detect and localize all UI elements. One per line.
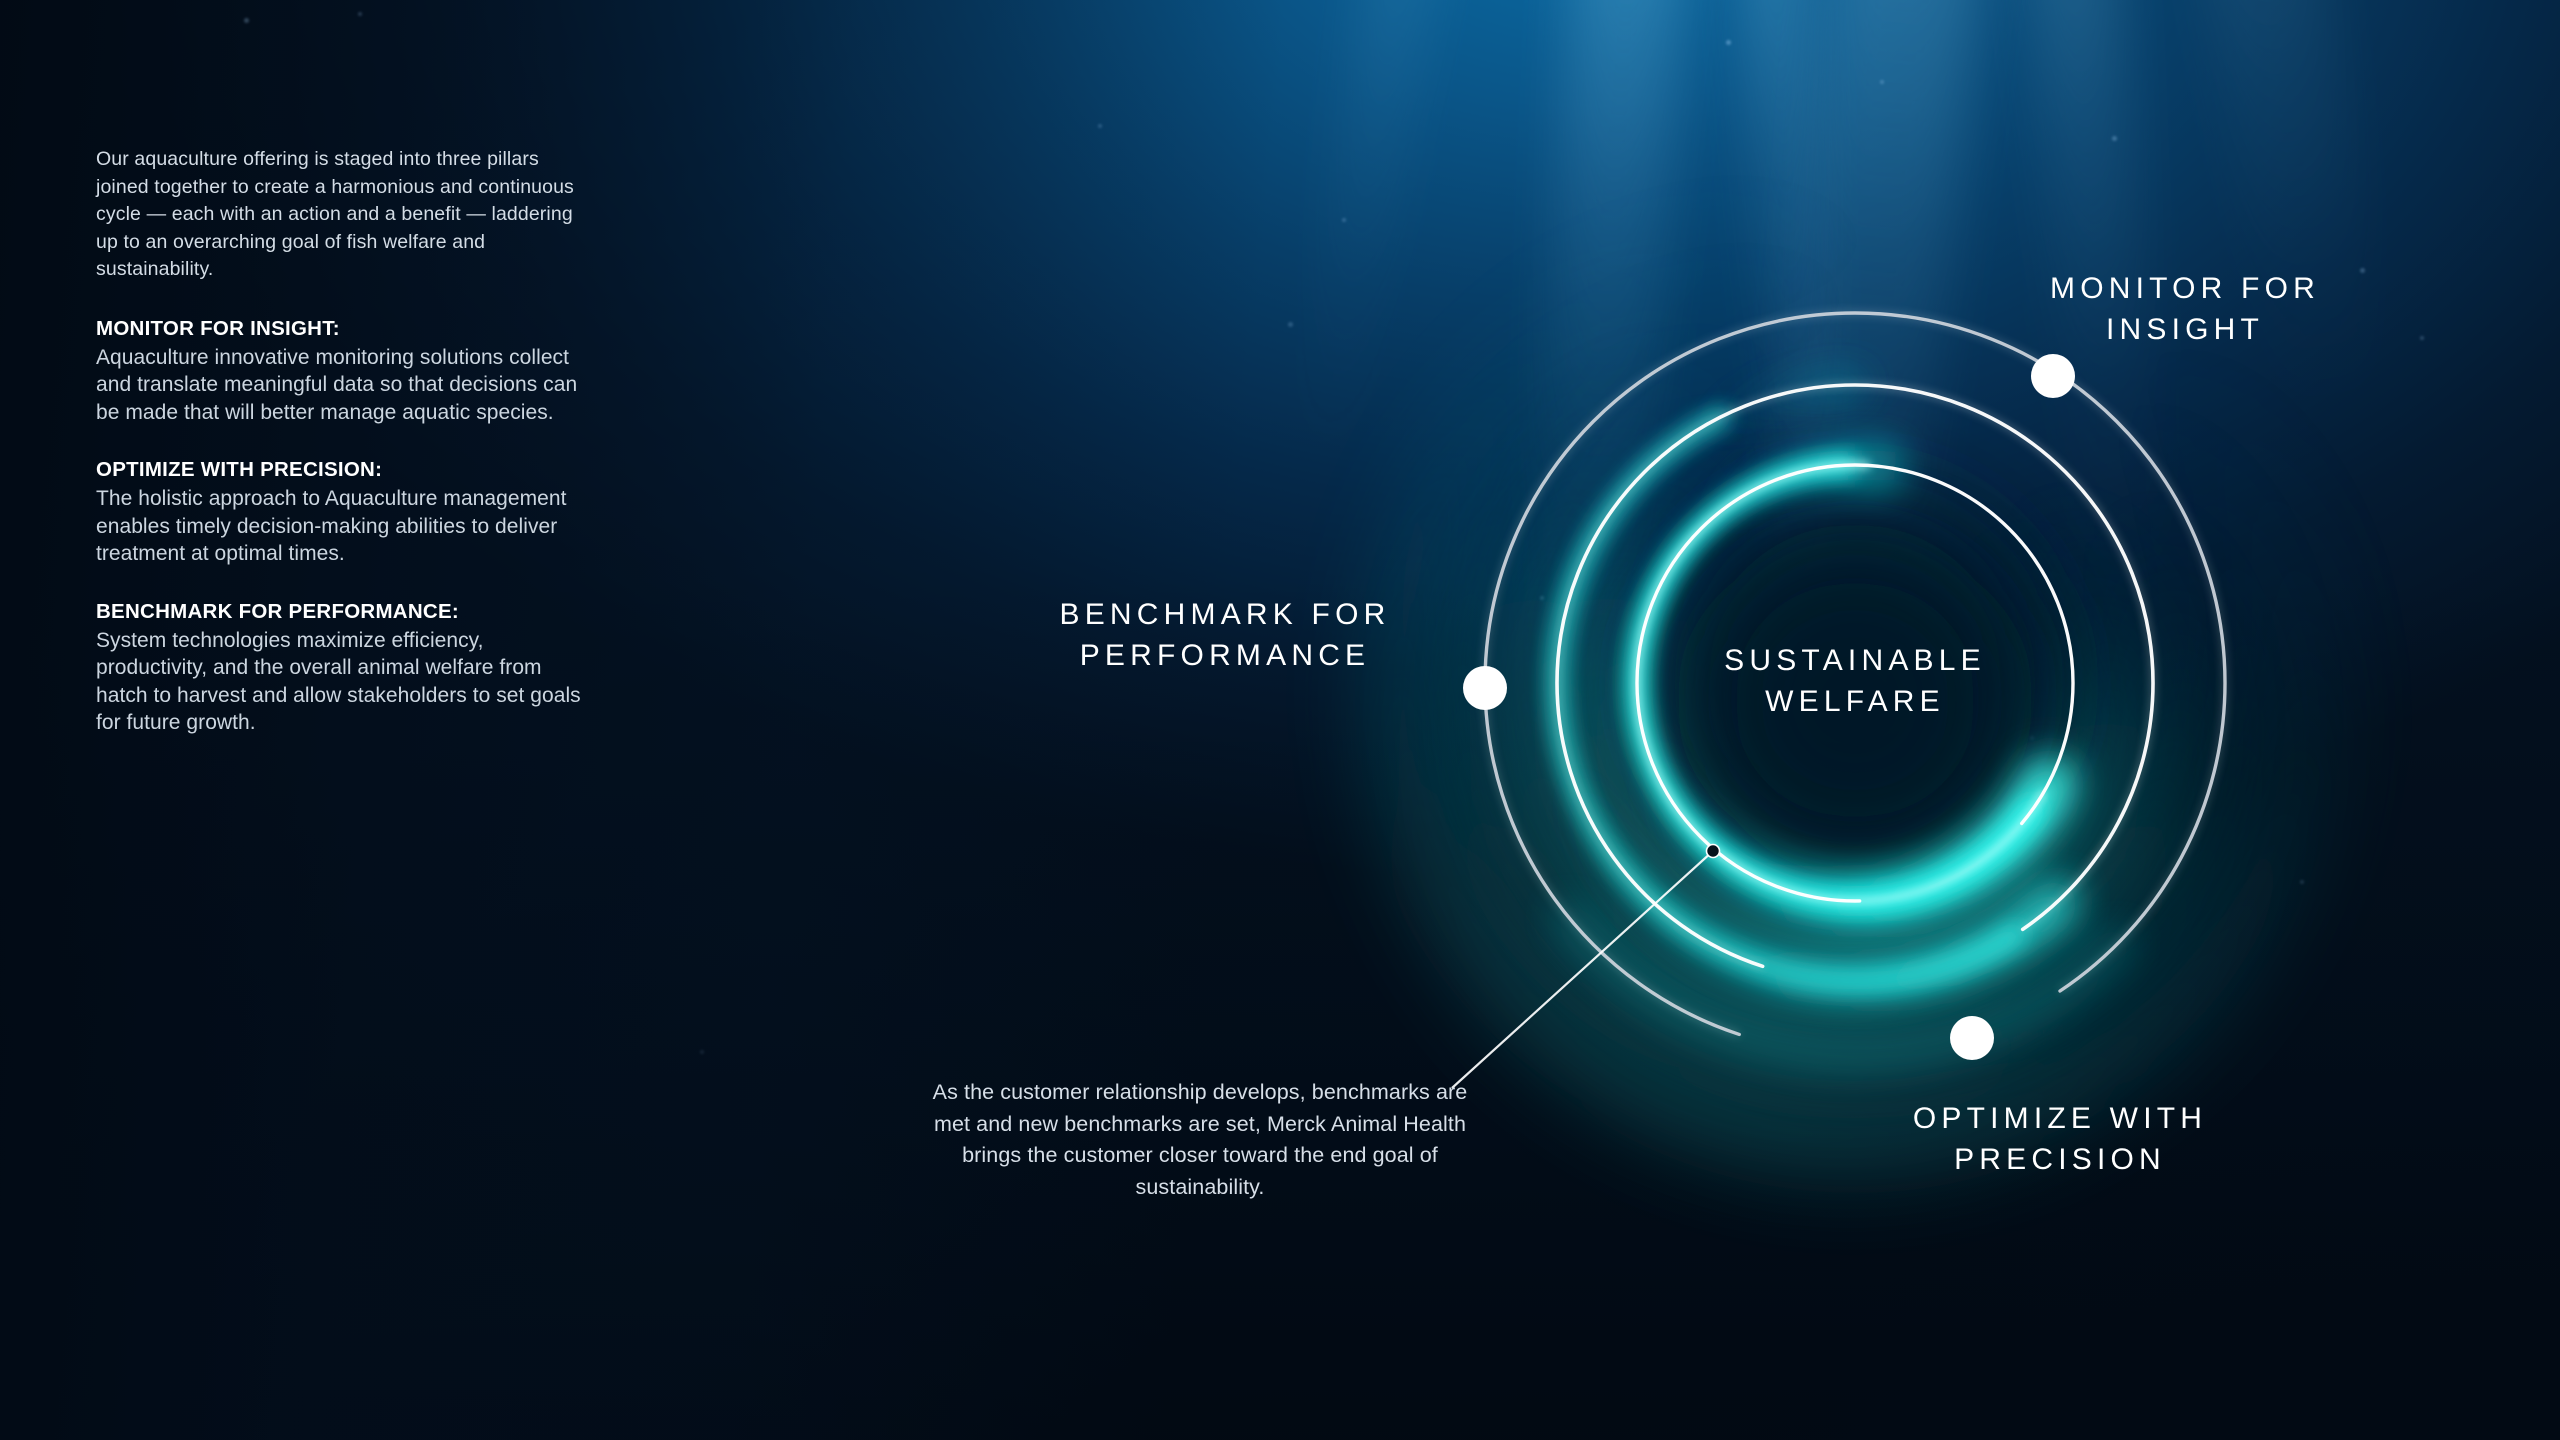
pillar-title: BENCHMARK FOR PERFORMANCE: (96, 598, 596, 625)
slide-canvas: Our aquaculture offering is staged into … (0, 0, 2560, 1440)
ring-label-line-1: BENCHMARK FOR (1010, 594, 1440, 635)
pillar-benchmark-for-performance: BENCHMARK FOR PERFORMANCE: System techno… (96, 598, 596, 737)
sidebar-text-column: Our aquaculture offering is staged into … (96, 146, 596, 767)
pillar-body: The holistic approach to Aquaculture man… (96, 485, 596, 568)
ring-label-optimize-with-precision: OPTIMIZE WITH PRECISION (1855, 1098, 2265, 1180)
pillar-body: Aquaculture innovative monitoring soluti… (96, 344, 596, 427)
ring-label-line-2: PERFORMANCE (1010, 635, 1440, 676)
pillar-optimize-with-precision: OPTIMIZE WITH PRECISION: The holistic ap… (96, 456, 596, 568)
center-label-sustainable-welfare: SUSTAINABLE WELFARE (1620, 640, 2090, 722)
ring-label-benchmark-for-performance: BENCHMARK FOR PERFORMANCE (1010, 594, 1440, 676)
pillar-title: OPTIMIZE WITH PRECISION: (96, 456, 596, 483)
ring-label-line-1: OPTIMIZE WITH (1855, 1098, 2265, 1139)
ring-label-line-2: PRECISION (1855, 1139, 2265, 1180)
pillar-title: MONITOR FOR INSIGHT: (96, 315, 596, 342)
ring-label-monitor-for-insight: MONITOR FOR INSIGHT (1985, 268, 2385, 350)
center-label-line-2: WELFARE (1620, 681, 2090, 722)
node-dot-monitor-for-insight (2031, 354, 2075, 398)
callout-text: As the customer relationship develops, b… (930, 1077, 1470, 1203)
ring-label-line-1: MONITOR FOR (1985, 268, 2385, 309)
ring-label-line-2: INSIGHT (1985, 309, 2385, 350)
center-label-line-1: SUSTAINABLE (1620, 640, 2090, 681)
node-dot-benchmark-for-performance (1463, 666, 1507, 710)
node-dot-optimize-with-precision (1950, 1016, 1994, 1060)
pillar-monitor-for-insight: MONITOR FOR INSIGHT: Aquaculture innovat… (96, 315, 596, 427)
pillar-body: System technologies maximize efficiency,… (96, 627, 596, 737)
intro-paragraph: Our aquaculture offering is staged into … (96, 146, 596, 284)
